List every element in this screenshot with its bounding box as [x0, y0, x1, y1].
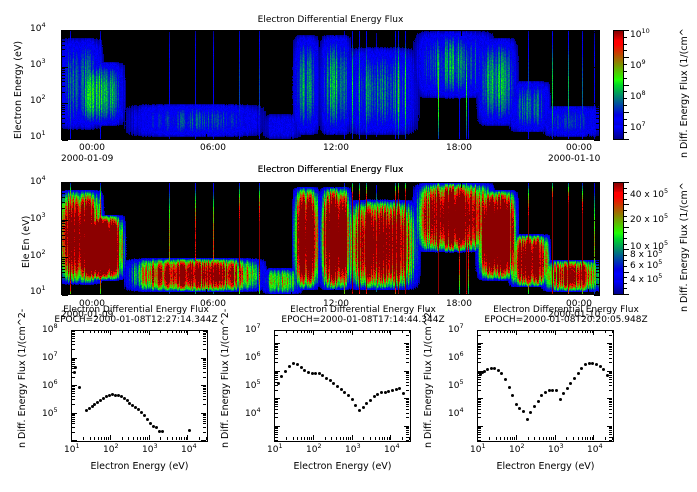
axis-tick: [596, 188, 599, 189]
axis-tick: [534, 437, 535, 440]
axis-tick: [402, 330, 403, 333]
axis-tick: [478, 362, 481, 363]
axis-tick: [106, 330, 107, 333]
axis-tick: [275, 417, 278, 418]
data-point: [486, 368, 489, 371]
axis-tick: [478, 375, 481, 376]
axis-tick: [379, 330, 380, 333]
data-point: [391, 389, 394, 392]
axis-tick: [181, 437, 182, 440]
axis-tick: [331, 330, 332, 333]
data-point: [292, 362, 295, 365]
axis-tick: [593, 435, 594, 440]
axis-tick: [528, 437, 529, 440]
axis-tick: [624, 188, 627, 189]
axis-tick: [275, 440, 278, 441]
axis-tick: [596, 107, 599, 108]
spectrum-1-xtick-4: 104: [181, 446, 197, 455]
axis-tick: [62, 41, 65, 42]
axis-tick: [534, 330, 535, 333]
axis-tick: [203, 404, 206, 405]
top-colorbar: [613, 30, 624, 140]
data-point: [188, 429, 191, 432]
axis-tick: [478, 398, 483, 399]
axis-tick: [624, 37, 627, 38]
axis-tick: [478, 437, 481, 438]
axis-tick: [418, 292, 419, 295]
axis-tick: [512, 330, 513, 333]
axis-tick: [275, 375, 278, 376]
axis-tick: [406, 346, 409, 347]
top-xdate-left: 2000-01-09: [61, 155, 113, 164]
data-point: [602, 368, 605, 371]
axis-tick: [167, 330, 168, 333]
axis-tick: [624, 244, 627, 245]
axis-tick: [249, 292, 250, 295]
axis-tick: [101, 330, 102, 333]
axis-tick: [62, 269, 65, 270]
axis-tick: [596, 105, 599, 106]
spectrum-2-ytick-7: 107: [245, 326, 261, 335]
data-point: [365, 402, 368, 405]
axis-tick: [588, 289, 589, 295]
axis-tick: [478, 330, 481, 331]
data-point: [515, 403, 518, 406]
axis-tick: [496, 437, 497, 440]
axis-tick: [607, 398, 612, 399]
axis-tick: [201, 330, 206, 331]
axis-tick: [624, 255, 627, 256]
data-point: [351, 398, 354, 401]
data-point: [336, 385, 339, 388]
spectrum-2-xtick-3: 103: [345, 446, 361, 455]
axis-tick: [275, 351, 278, 352]
data-point: [544, 391, 547, 394]
data-point: [573, 377, 576, 380]
axis-tick: [609, 335, 612, 336]
axis-tick: [582, 437, 583, 440]
data-point: [146, 418, 149, 421]
axis-tick: [62, 36, 65, 37]
axis-tick: [607, 426, 612, 427]
axis-tick: [275, 432, 278, 433]
axis-tick: [406, 390, 409, 391]
axis-tick: [352, 435, 353, 440]
top-colorbar-label: n Diff. Energy Flux (1/(cm^: [680, 28, 690, 158]
axis-tick: [624, 283, 627, 284]
axis-tick: [510, 437, 511, 440]
data-point: [358, 409, 361, 412]
middle-spectrogram: [61, 182, 600, 295]
top-ytick-1: 101: [30, 133, 46, 142]
axis-tick: [301, 330, 302, 333]
axis-tick: [596, 34, 599, 35]
data-point: [569, 382, 572, 385]
axis-tick: [325, 437, 326, 440]
axis-tick: [549, 437, 550, 440]
axis-tick: [62, 70, 65, 71]
axis-tick: [406, 440, 409, 441]
axis-tick: [62, 231, 65, 232]
spectrum-3-ytick-7: 107: [448, 326, 464, 335]
spectrum-1-ylabel: n Diff. Energy Flux (1/(cm^2-: [18, 309, 28, 448]
axis-tick: [609, 404, 612, 405]
axis-tick: [596, 118, 599, 119]
axis-tick: [590, 330, 591, 333]
axis-tick: [596, 32, 599, 33]
axis-tick: [121, 182, 122, 185]
axis-tick: [62, 81, 65, 82]
axis-tick: [145, 437, 146, 440]
axis-tick: [286, 330, 287, 333]
axis-tick: [62, 129, 65, 130]
top-xtick-3: 18:00: [446, 144, 472, 153]
axis-tick: [363, 330, 364, 333]
axis-tick: [609, 413, 612, 414]
axis-tick: [582, 330, 583, 333]
axis-tick: [596, 269, 599, 270]
axis-tick: [609, 347, 612, 348]
data-point: [376, 393, 379, 396]
data-point: [551, 389, 554, 392]
axis-tick: [62, 32, 65, 33]
axis-tick: [596, 70, 599, 71]
axis-tick: [62, 259, 65, 260]
axis-tick: [62, 38, 65, 39]
spectrum-3-xlabel: Electron Energy (eV): [477, 462, 614, 472]
axis-tick: [62, 266, 65, 267]
axis-tick: [313, 330, 314, 335]
middle-ytick-1: 101: [30, 288, 46, 297]
axis-tick: [106, 437, 107, 440]
axis-tick: [594, 103, 600, 104]
axis-tick: [624, 227, 627, 228]
axis-tick: [275, 349, 278, 350]
axis-tick: [206, 182, 207, 188]
axis-tick: [596, 78, 599, 79]
axis-tick: [406, 347, 409, 348]
axis-tick: [199, 330, 200, 333]
spectrum-1-title: Electron Differential Energy Flux: [36, 306, 236, 315]
data-point: [387, 390, 390, 393]
axis-tick: [596, 284, 599, 285]
axis-tick: [62, 114, 65, 115]
data-point: [511, 394, 514, 397]
data-point: [500, 372, 503, 375]
axis-tick: [122, 330, 123, 333]
axis-tick: [404, 426, 409, 427]
axis-tick: [596, 56, 599, 57]
axis-tick: [375, 330, 376, 333]
axis-tick: [203, 386, 206, 387]
axis-tick: [406, 417, 409, 418]
axis-tick: [596, 123, 599, 124]
spectrum-3-ylabel: n Diff. Energy Flux (1/(cm^2-: [424, 309, 434, 448]
axis-tick: [596, 272, 599, 273]
axis-tick: [609, 399, 612, 400]
axis-tick: [147, 437, 148, 440]
axis-tick: [478, 343, 483, 344]
top-ytick-2: 102: [30, 97, 46, 106]
axis-tick: [62, 75, 65, 76]
axis-tick: [406, 362, 409, 363]
axis-tick: [478, 390, 481, 391]
axis-tick: [478, 432, 481, 433]
axis-tick: [275, 330, 278, 331]
axis-tick: [184, 330, 185, 333]
axis-tick: [500, 330, 501, 333]
axis-tick: [624, 288, 627, 289]
axis-tick: [72, 404, 75, 405]
axis-tick: [164, 292, 165, 295]
axis-tick: [551, 330, 552, 333]
axis-tick: [596, 226, 599, 227]
data-point: [493, 367, 496, 370]
spectrum-3-plot: [477, 330, 614, 442]
spectrum-1-ytick-7: 107: [42, 354, 58, 363]
axis-tick: [406, 406, 409, 407]
axis-tick: [478, 434, 481, 435]
axis-tick: [478, 354, 481, 355]
axis-tick: [203, 362, 206, 363]
axis-tick: [275, 390, 278, 391]
data-point: [303, 369, 306, 372]
axis-tick: [334, 30, 335, 36]
axis-tick: [609, 346, 612, 347]
axis-tick: [624, 272, 627, 273]
axis-tick: [304, 437, 305, 440]
axis-tick: [62, 261, 65, 262]
axis-tick: [137, 330, 138, 333]
axis-tick: [140, 437, 141, 440]
axis-tick: [325, 330, 326, 333]
axis-tick: [62, 188, 65, 189]
axis-tick: [406, 437, 409, 438]
axis-tick: [201, 440, 206, 441]
axis-tick: [406, 372, 409, 373]
axis-tick: [549, 330, 550, 333]
data-point: [537, 400, 540, 403]
axis-tick: [596, 129, 599, 130]
axis-tick: [62, 182, 68, 183]
middle-cbtick-20: 20 x 105: [630, 216, 668, 225]
axis-tick: [596, 231, 599, 232]
axis-tick: [609, 428, 612, 429]
axis-tick: [140, 330, 141, 333]
axis-tick: [352, 330, 353, 335]
axis-tick: [72, 341, 75, 342]
axis-tick: [275, 399, 278, 400]
axis-tick: [90, 330, 91, 333]
axis-tick: [145, 330, 146, 333]
axis-tick: [62, 277, 65, 278]
axis-tick: [128, 437, 129, 440]
axis-tick: [172, 330, 173, 333]
middle-panel-title: Electron Differential Energy Flux: [61, 166, 600, 175]
spectrum-1-subtitle: EPOCH=2000-01-08T12:27:14.344Z: [26, 316, 246, 325]
data-point: [522, 410, 525, 413]
axis-tick: [72, 388, 75, 389]
spectrum-3-xtick-1: 101: [470, 446, 486, 455]
spectrum-1-ytick-5: 105: [42, 410, 58, 419]
spectrum-3-xtick-3: 103: [548, 446, 564, 455]
axis-tick: [507, 437, 508, 440]
axis-tick: [546, 330, 547, 333]
data-point: [398, 387, 401, 390]
data-point: [380, 391, 383, 394]
axis-tick: [62, 34, 65, 35]
axis-tick: [275, 379, 278, 380]
data-point: [321, 374, 324, 377]
axis-tick: [203, 396, 206, 397]
data-point: [347, 394, 350, 397]
axis-tick: [609, 354, 612, 355]
axis-tick: [62, 118, 65, 119]
axis-tick: [406, 413, 409, 414]
data-point: [143, 414, 146, 417]
axis-tick: [596, 75, 599, 76]
axis-tick: [624, 266, 627, 267]
middle-cbtick-40: 40 x 105: [630, 191, 668, 200]
axis-tick: [350, 437, 351, 440]
axis-tick: [406, 401, 409, 402]
axis-tick: [624, 294, 629, 295]
axis-tick: [206, 289, 207, 295]
axis-tick: [275, 398, 280, 399]
axis-tick: [406, 351, 409, 352]
axis-tick: [301, 437, 302, 440]
axis-tick: [72, 344, 75, 345]
top-ytick-3: 103: [30, 61, 46, 70]
axis-tick: [311, 437, 312, 440]
axis-tick: [596, 36, 599, 37]
axis-tick: [461, 182, 462, 188]
data-point: [526, 418, 529, 421]
axis-tick: [406, 354, 409, 355]
axis-tick: [406, 375, 409, 376]
axis-tick: [167, 437, 168, 440]
axis-tick: [203, 341, 206, 342]
axis-tick: [596, 208, 599, 209]
axis-tick: [297, 437, 298, 440]
axis-tick: [90, 437, 91, 440]
axis-tick: [624, 277, 627, 278]
data-point: [559, 398, 562, 401]
axis-tick: [72, 385, 77, 386]
axis-tick: [593, 330, 594, 335]
axis-tick: [404, 398, 409, 399]
axis-tick: [133, 437, 134, 440]
axis-tick: [596, 261, 599, 262]
axis-tick: [62, 111, 65, 112]
axis-tick: [387, 437, 388, 440]
axis-tick: [578, 437, 579, 440]
axis-tick: [624, 249, 627, 250]
axis-tick: [143, 330, 144, 333]
axis-tick: [348, 437, 349, 440]
axis-tick: [350, 330, 351, 333]
axis-tick: [275, 437, 278, 438]
axis-tick: [551, 437, 552, 440]
spectrum-2-ytick-5: 105: [245, 382, 261, 391]
axis-tick: [390, 330, 391, 335]
axis-tick: [478, 377, 481, 378]
axis-tick: [596, 81, 599, 82]
axis-tick: [160, 330, 161, 333]
figure-canvas: Electron Differential Energy Flux Electr…: [0, 0, 697, 492]
axis-tick: [83, 330, 84, 333]
axis-tick: [62, 92, 65, 93]
axis-tick: [609, 349, 612, 350]
axis-tick: [514, 330, 515, 333]
axis-tick: [307, 330, 308, 333]
axis-tick: [275, 426, 280, 427]
axis-tick: [390, 435, 391, 440]
axis-tick: [62, 197, 65, 198]
axis-tick: [275, 358, 278, 359]
axis-tick: [624, 182, 627, 183]
axis-tick: [340, 330, 341, 333]
axis-tick: [624, 132, 627, 133]
axis-tick: [379, 437, 380, 440]
axis-tick: [609, 432, 612, 433]
axis-tick: [404, 371, 409, 372]
axis-tick: [72, 349, 75, 350]
axis-tick: [275, 371, 280, 372]
data-point: [518, 407, 521, 410]
data-point: [580, 367, 583, 370]
axis-tick: [62, 30, 68, 31]
axis-tick: [307, 437, 308, 440]
data-point: [288, 365, 291, 368]
axis-tick: [528, 330, 529, 333]
axis-tick: [406, 377, 409, 378]
axis-tick: [275, 409, 278, 410]
data-point: [340, 388, 343, 391]
axis-tick: [418, 182, 419, 185]
data-point: [562, 392, 565, 395]
axis-tick: [203, 423, 206, 424]
axis-tick: [624, 64, 627, 65]
axis-tick: [203, 364, 206, 365]
axis-tick: [478, 417, 481, 418]
axis-tick: [206, 437, 207, 440]
axis-tick: [594, 30, 600, 31]
axis-tick: [79, 182, 80, 188]
axis-tick: [72, 377, 75, 378]
data-point: [314, 372, 317, 375]
axis-tick: [406, 428, 409, 429]
axis-tick: [624, 125, 627, 126]
axis-tick: [406, 373, 409, 374]
axis-tick: [275, 427, 278, 428]
axis-tick: [336, 330, 337, 333]
data-point: [284, 370, 287, 373]
middle-ytick-3: 103: [30, 215, 46, 224]
spectrum-3-xtick-4: 104: [587, 446, 603, 455]
axis-tick: [516, 330, 517, 335]
axis-tick: [478, 346, 481, 347]
axis-tick: [110, 435, 111, 440]
data-point: [332, 382, 335, 385]
axis-tick: [573, 330, 574, 333]
axis-tick: [409, 437, 410, 440]
axis-tick: [293, 437, 294, 440]
axis-tick: [546, 137, 547, 140]
data-point: [529, 411, 532, 414]
spectrum-3-subtitle: EPOCH=2000-01-08T20:20:05.948Z: [456, 316, 676, 325]
axis-tick: [199, 437, 200, 440]
